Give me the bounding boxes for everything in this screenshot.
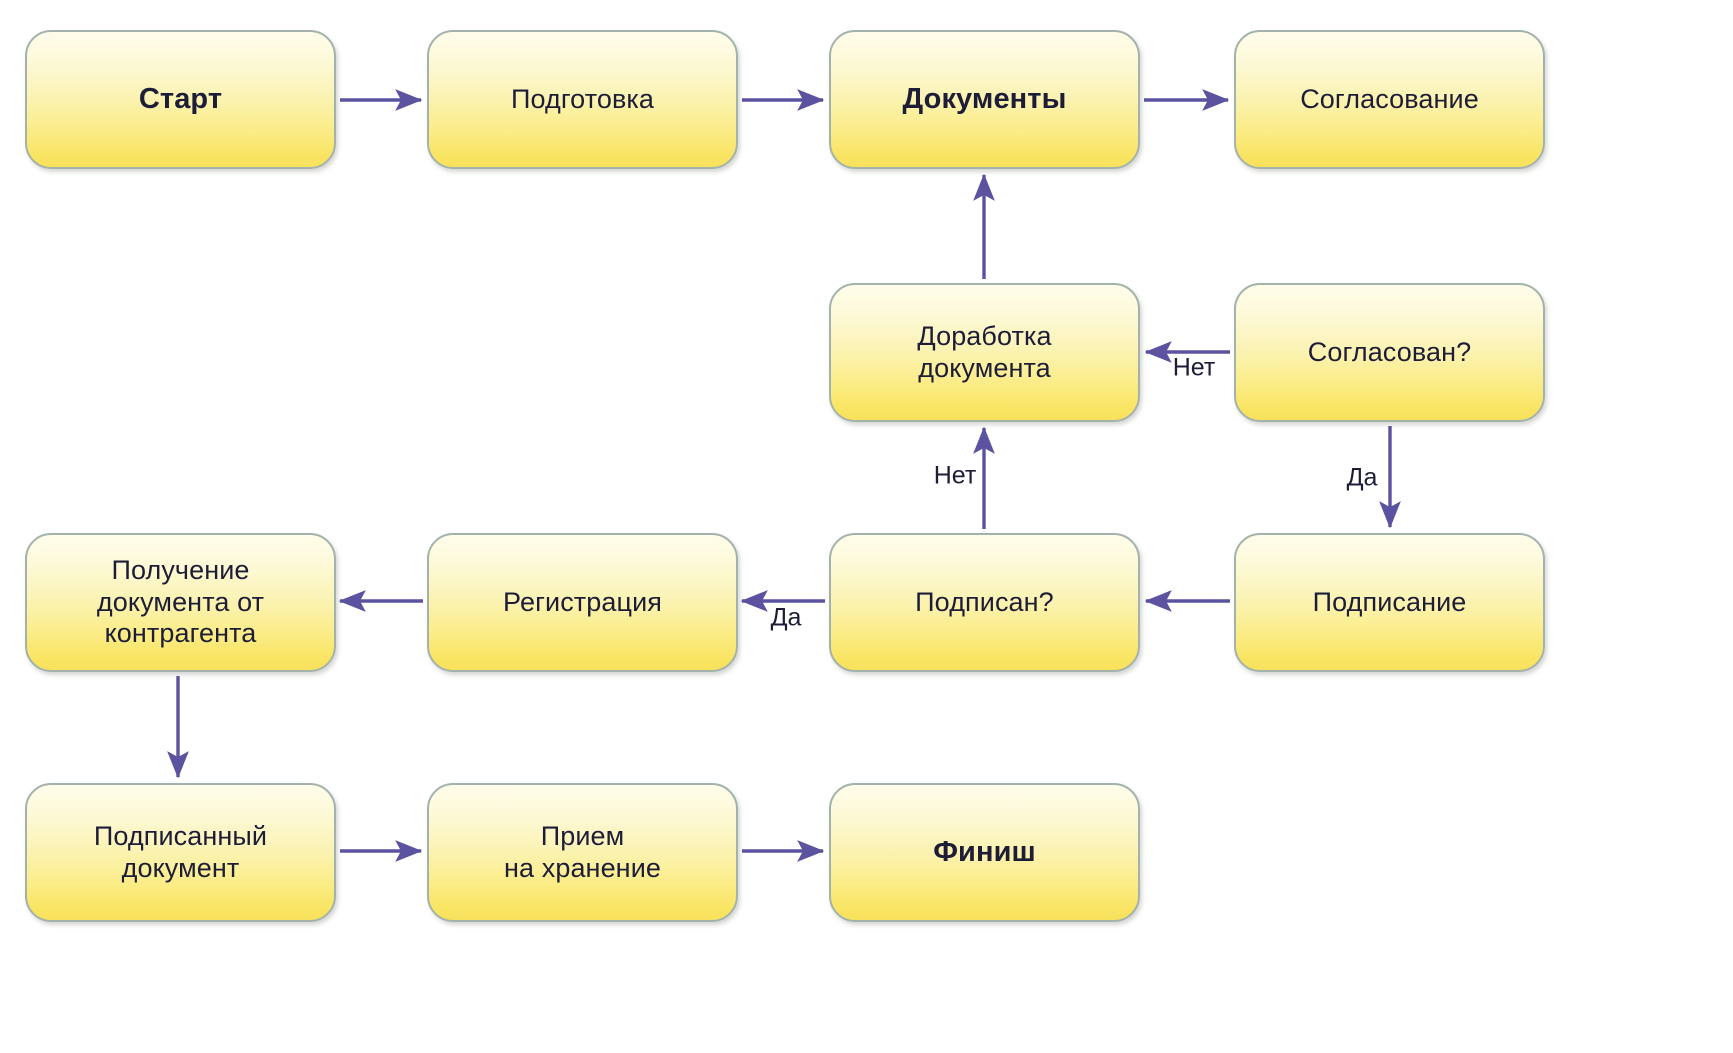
node-label: Финиш (933, 835, 1036, 869)
node-label: Получение документа от контрагента (97, 555, 264, 651)
node-signed_q[interactable]: Подписан? (829, 533, 1140, 672)
node-label: Доработка документа (917, 321, 1051, 385)
node-docs[interactable]: Документы (829, 30, 1140, 169)
node-label: Прием на хранение (504, 821, 661, 885)
flowchart-canvas: СтартПодготовкаДокументыСогласованиеДора… (0, 0, 1733, 1053)
node-start[interactable]: Старт (25, 30, 336, 169)
node-approval[interactable]: Согласование (1234, 30, 1545, 169)
edge-label-approvedq-rework: Нет (1173, 356, 1216, 381)
node-label: Регистрация (503, 587, 662, 619)
node-label: Подписание (1313, 587, 1467, 619)
node-signed_doc[interactable]: Подписанный документ (25, 783, 336, 922)
node-approved_q[interactable]: Согласован? (1234, 283, 1545, 422)
node-prep[interactable]: Подготовка (427, 30, 738, 169)
edge-label-signedq-register: Да (771, 606, 802, 631)
node-label: Подписан? (915, 587, 1054, 619)
edge-label-approvedq-signing: Да (1347, 466, 1378, 491)
node-label: Подготовка (511, 84, 654, 116)
node-label: Старт (139, 82, 222, 116)
node-receive[interactable]: Получение документа от контрагента (25, 533, 336, 672)
edge-label-signedq-rework: Нет (934, 464, 977, 489)
node-label: Подписанный документ (94, 821, 267, 885)
node-storage[interactable]: Прием на хранение (427, 783, 738, 922)
node-label: Согласован? (1308, 337, 1471, 369)
node-signing[interactable]: Подписание (1234, 533, 1545, 672)
node-finish[interactable]: Финиш (829, 783, 1140, 922)
node-register[interactable]: Регистрация (427, 533, 738, 672)
node-label: Документы (903, 82, 1067, 116)
node-label: Согласование (1300, 84, 1479, 116)
node-rework[interactable]: Доработка документа (829, 283, 1140, 422)
